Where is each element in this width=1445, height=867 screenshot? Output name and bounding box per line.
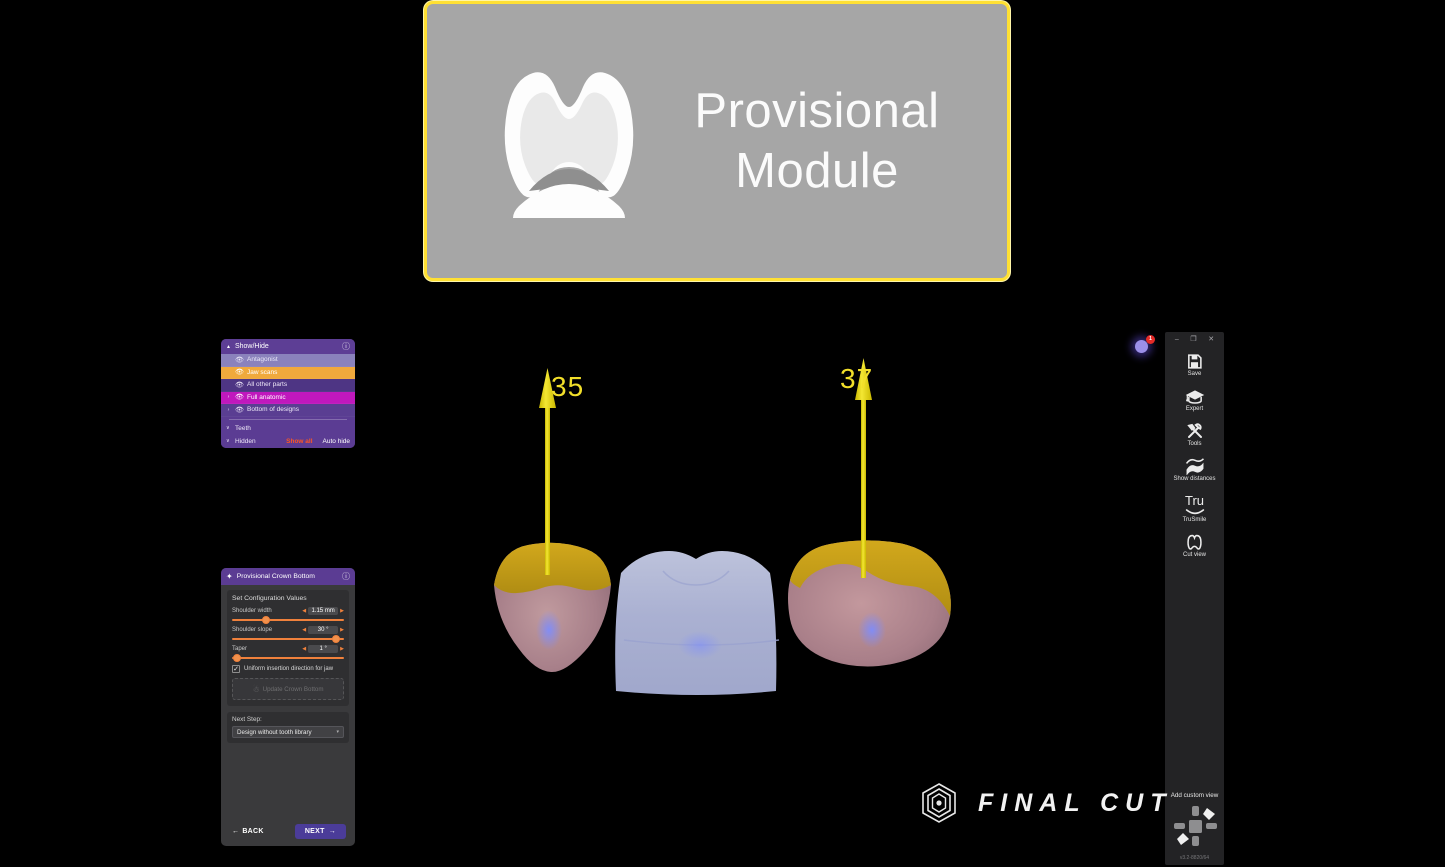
value-stepper[interactable]: ◀ 1.15 mm ▶ [302, 607, 344, 615]
slider-knob[interactable] [233, 654, 241, 662]
update-button-label: Update Crown Bottom [263, 686, 324, 693]
crown-panel-body: Set Configuration Values Shoulder width … [221, 585, 355, 743]
slider-knob[interactable] [332, 635, 340, 643]
save-floppy-icon[interactable] [1186, 352, 1203, 370]
config-title: Set Configuration Values [232, 595, 344, 602]
hammer-wrench-icon[interactable] [1186, 422, 1204, 440]
sidebar-item-antagonist[interactable]: 👁 Antagonist [221, 354, 355, 367]
toolbar-item-tools[interactable]: Tools [1165, 416, 1224, 451]
help-circle-icon[interactable]: ⓘ [342, 571, 350, 582]
row-label: Full anatomic [247, 394, 351, 401]
final-cut-branding: FINAL CUT [918, 782, 1172, 824]
toolbar-label: Expert [1186, 406, 1203, 413]
notification-indicator[interactable]: 1 [1133, 335, 1155, 357]
arrow-left-icon: ← [232, 828, 239, 835]
module-title-line2: Module [649, 141, 985, 201]
right-toolbar[interactable]: – ❐ ✕ Save Ex [1165, 332, 1224, 865]
next-button-label: NEXT [305, 828, 325, 835]
stepper-decrement-icon[interactable]: ◀ [302, 646, 306, 652]
toolbar-item-expert[interactable]: Expert [1165, 381, 1224, 416]
row-label: All other parts [247, 381, 351, 388]
distance-map-icon[interactable] [1185, 457, 1205, 475]
module-title: Provisional Module [649, 81, 1007, 201]
toolbar-label: Tools [1187, 441, 1201, 448]
arrow-right-icon: → [329, 828, 336, 835]
group-label: Teeth [235, 425, 251, 432]
sidebar-item-bottom-of-designs[interactable]: › 👁 Bottom of designs [221, 404, 355, 417]
row-label: Antagonist [247, 356, 351, 363]
eye-off-icon[interactable]: 👁 [235, 356, 243, 364]
crown-panel-footer: ← BACK NEXT → [221, 816, 355, 846]
next-step-select[interactable]: Design without tooth library ▾ [232, 726, 344, 738]
eye-icon[interactable]: 👁 [235, 393, 243, 401]
configuration-values-box: Set Configuration Values Shoulder width … [227, 590, 349, 706]
notification-badge[interactable]: 1 [1146, 335, 1155, 344]
update-crown-bottom-button[interactable]: ☃ Update Crown Bottom [232, 678, 344, 700]
toolbar-item-cut-view[interactable]: Cut view [1165, 527, 1224, 562]
app-root: 35 37 Provisional Module ▲ Show/Hide ⓘ 👁… [0, 0, 1445, 867]
crown-panel-header: ✦ Provisional Crown Bottom ⓘ [221, 568, 355, 585]
value-stepper[interactable]: ◀ 1 ° ▶ [302, 645, 344, 653]
crown-bottom-icon: ☃ [252, 685, 259, 694]
sidebar-item-jaw-scans[interactable]: 👁 Jaw scans [221, 367, 355, 380]
view-cube-icon[interactable] [1171, 803, 1219, 849]
row-label: Jaw scans [247, 369, 351, 376]
version-label: v3.2-8820/64 [1180, 855, 1209, 861]
row-label: Bottom of designs [247, 406, 351, 413]
checkbox-uniform-insertion[interactable]: ✓ [232, 665, 240, 673]
hidden-label: Hidden [235, 438, 256, 445]
sidebar-item-all-other-parts[interactable]: 👁 All other parts [221, 379, 355, 392]
show-all-button[interactable]: Show all [286, 438, 312, 445]
chevron-down-icon[interactable]: ∨ [226, 425, 231, 431]
slider-track[interactable] [232, 657, 344, 659]
auto-hide-button[interactable]: Auto hide [323, 438, 350, 445]
slider-label: Shoulder slope [232, 627, 302, 633]
slider-track[interactable] [232, 638, 344, 640]
cut-view-tooth-icon[interactable] [1185, 533, 1204, 551]
back-button-label: BACK [242, 828, 263, 835]
sidebar-item-full-anatomic[interactable]: › 👁 Full anatomic [221, 392, 355, 405]
magic-wand-icon: ✦ [226, 572, 233, 581]
trusmile-icon[interactable]: Tru [1185, 492, 1204, 510]
stepper-increment-icon[interactable]: ▶ [340, 608, 344, 614]
help-circle-icon[interactable]: ⓘ [342, 341, 350, 352]
slider-taper[interactable]: Taper ◀ 1 ° ▶ [232, 645, 344, 659]
chevron-down-icon[interactable]: ▾ [336, 729, 339, 735]
crown-panel-title: Provisional Crown Bottom [237, 573, 338, 580]
chevron-right-icon[interactable]: › [226, 407, 231, 413]
chevron-down-icon[interactable]: ∨ [226, 438, 231, 444]
divider [229, 419, 347, 420]
uniform-insertion-checkbox-row[interactable]: ✓ Uniform insertion direction for jaw [232, 665, 344, 673]
stepper-decrement-icon[interactable]: ◀ [302, 608, 306, 614]
graduation-cap-icon[interactable] [1185, 387, 1205, 405]
next-step-box: Next Step: Design without tooth library … [227, 712, 349, 743]
toolbar-label: Show distances [1173, 476, 1215, 483]
slider-value[interactable]: 1 ° [308, 645, 338, 653]
restore-icon[interactable]: ❐ [1190, 336, 1196, 344]
eye-off-icon[interactable]: 👁 [235, 368, 243, 376]
final-cut-hexagon-icon [918, 782, 960, 824]
provisional-crown-bottom-panel[interactable]: ✦ Provisional Crown Bottom ⓘ Set Configu… [221, 568, 355, 846]
back-button[interactable]: ← BACK [230, 825, 266, 838]
toolbar-label: Save [1188, 371, 1202, 378]
window-controls[interactable]: – ❐ ✕ [1165, 332, 1224, 346]
show-hide-group-teeth[interactable]: ∨ Teeth [221, 422, 355, 435]
close-icon[interactable]: ✕ [1208, 336, 1214, 344]
slider-value[interactable]: 30 ° [308, 626, 338, 634]
chevron-up-icon[interactable]: ▲ [226, 344, 231, 350]
value-stepper[interactable]: ◀ 30 ° ▶ [302, 626, 344, 634]
eye-icon[interactable]: 👁 [235, 381, 243, 389]
show-hide-title: Show/Hide [235, 343, 338, 350]
chevron-right-icon[interactable]: › [226, 394, 231, 400]
stepper-increment-icon[interactable]: ▶ [340, 627, 344, 633]
trusmile-smile-icon [1185, 509, 1205, 516]
next-button[interactable]: NEXT → [295, 824, 346, 839]
toolbar-item-show-distances[interactable]: Show distances [1165, 451, 1224, 486]
slider-label: Taper [232, 646, 302, 652]
tooth-crown-icon [489, 56, 649, 226]
trusmile-text: Tru [1185, 495, 1204, 507]
show-hide-header[interactable]: ▲ Show/Hide ⓘ [221, 339, 355, 354]
tooth-label-35: 35 [551, 371, 584, 403]
eye-icon[interactable]: 👁 [235, 406, 243, 414]
minimize-icon[interactable]: – [1175, 336, 1179, 344]
slider-shoulder-slope[interactable]: Shoulder slope ◀ 30 ° ▶ [232, 626, 344, 640]
next-step-selected-value: Design without tooth library [237, 729, 336, 736]
final-cut-wordmark: FINAL CUT [978, 789, 1172, 818]
stepper-decrement-icon[interactable]: ◀ [302, 627, 306, 633]
module-title-card: Provisional Module [424, 1, 1010, 281]
toolbar-item-trusmile[interactable]: Tru TruSmile [1165, 486, 1224, 527]
checkbox-label: Uniform insertion direction for jaw [244, 665, 333, 673]
show-hide-footer[interactable]: ∨ Hidden Show all Auto hide [221, 435, 355, 448]
tooth-label-37: 37 [840, 363, 873, 395]
slider-value[interactable]: 1.15 mm [308, 607, 338, 615]
stepper-increment-icon[interactable]: ▶ [340, 646, 344, 652]
slider-label: Shoulder width [232, 608, 302, 614]
next-step-label: Next Step: [232, 716, 344, 723]
slider-shoulder-width[interactable]: Shoulder width ◀ 1.15 mm ▶ [232, 607, 344, 621]
add-custom-view-label[interactable]: Add custom view [1171, 792, 1219, 799]
toolbar-item-save[interactable]: Save [1165, 346, 1224, 381]
toolbar-label: TruSmile [1183, 517, 1207, 524]
module-title-line1: Provisional [649, 81, 985, 141]
show-hide-panel[interactable]: ▲ Show/Hide ⓘ 👁 Antagonist 👁 Jaw scans 👁… [221, 339, 355, 448]
slider-track[interactable] [232, 619, 344, 621]
slider-knob[interactable] [262, 616, 270, 624]
toolbar-label: Cut view [1183, 552, 1206, 559]
